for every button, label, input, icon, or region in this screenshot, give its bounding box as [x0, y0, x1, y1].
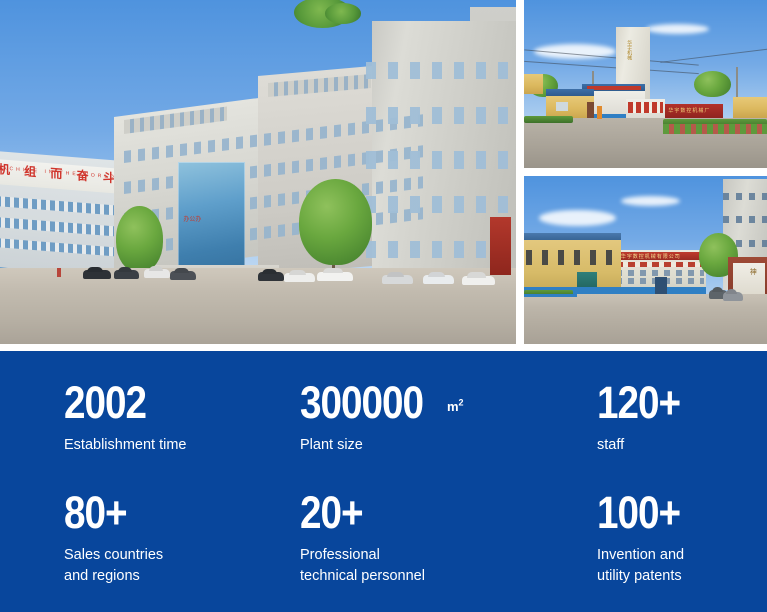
gatehouse-roof: [546, 89, 595, 96]
stat-label-line2: and regions: [64, 566, 163, 587]
tree: [299, 179, 371, 265]
window-row: [723, 193, 767, 200]
stat-value-line: 80+: [64, 490, 163, 536]
yard-pavement: [524, 294, 767, 344]
car: [144, 269, 170, 278]
stat-establishment-time: 2002 Establishment time: [64, 380, 187, 456]
cloud: [646, 24, 709, 34]
stat-label-line2: utility patents: [597, 566, 694, 587]
workshop-window-row: [526, 250, 613, 265]
stat-value: 80+: [64, 490, 127, 535]
tree: [116, 206, 162, 271]
pedestrian: [57, 268, 61, 277]
stat-value: 120+: [597, 380, 680, 425]
stat-value: 20+: [300, 490, 363, 535]
company-profile-panel: 机 组 而 奋 斗 MACHINE IN THE WORLD: [0, 0, 767, 612]
stat-value-line: 2002: [64, 380, 187, 426]
photo-factory-gate[interactable]: 华宇机械 华宇数控机械厂: [524, 0, 767, 168]
photo-main-office-building[interactable]: 机 组 而 奋 斗 MACHINE IN THE WORLD: [0, 0, 516, 344]
car: [723, 292, 742, 301]
stat-label: Establishment time: [64, 435, 187, 456]
car: [284, 273, 315, 282]
car: [83, 270, 111, 279]
stat-plant-size: 300000 m2 Plant size: [300, 380, 464, 456]
side-wall: [733, 97, 767, 117]
gatehouse-window: [556, 102, 568, 110]
tower-window-row: [366, 151, 510, 168]
office-entrance: [655, 277, 667, 294]
stat-value: 100+: [597, 490, 680, 535]
glass-sign-text: 办公办: [183, 214, 201, 223]
tower-window-row: [366, 241, 510, 258]
car: [170, 271, 196, 280]
car: [382, 275, 413, 284]
stat-label: Professional: [300, 545, 425, 566]
car: [317, 272, 353, 281]
photo-gallery: 机 组 而 奋 斗 MACHINE IN THE WORLD: [0, 0, 767, 344]
glass-curtain-wall: 办公办: [178, 162, 245, 276]
gatehouse-door: [587, 102, 594, 117]
hedge: [524, 116, 573, 123]
car: [423, 275, 454, 284]
tree: [694, 71, 730, 98]
plaque-row: [628, 102, 662, 112]
stat-label: Sales countries: [64, 545, 163, 566]
stat-value: 2002: [64, 380, 146, 425]
stat-staff: 120+ staff: [597, 380, 694, 456]
stat-value-line: 300000 m2: [300, 380, 464, 426]
office-sign-row: [616, 262, 703, 267]
workshop-building: [524, 240, 621, 294]
stat-label: Plant size: [300, 435, 464, 456]
company-sign-text: 华宇数控机械厂: [668, 107, 710, 114]
stat-value-line: 100+: [597, 490, 694, 536]
stat-value-line: 20+: [300, 490, 425, 536]
office-red-banner: 华宇数控机械有限公司: [616, 252, 703, 260]
monument-text: 神: [748, 268, 757, 275]
workshop-red-sign: [587, 86, 640, 90]
stats-grid: 2002 Establishment time 300000 m2 Plant …: [0, 351, 767, 612]
company-stats-banner: 2002 Establishment time 300000 m2 Plant …: [0, 351, 767, 612]
bollard: [597, 106, 602, 119]
tower-window-row: [366, 107, 510, 124]
car: [114, 270, 140, 279]
stat-value-line: 120+: [597, 380, 694, 426]
red-gate-pillar: [490, 217, 511, 275]
stat-label-line2: technical personnel: [300, 566, 425, 587]
tower-sign-text: 华宇机械: [625, 40, 632, 60]
stat-value: 300000: [300, 380, 423, 425]
curb: [524, 294, 577, 297]
tower-window-row: [366, 196, 510, 213]
flower-bed: [663, 124, 767, 134]
company-sign: 华宇数控机械厂: [665, 104, 723, 117]
stat-unit: m2: [447, 400, 464, 413]
stat-technical-personnel: 20+ Professional technical personnel: [300, 490, 425, 587]
car: [258, 272, 284, 281]
tower-window-row: [366, 62, 510, 79]
stat-patents: 100+ Invention and utility patents: [597, 490, 694, 587]
stat-label: Invention and: [597, 545, 694, 566]
side-shed: [524, 74, 543, 94]
car: [462, 276, 496, 285]
window-row: [723, 216, 767, 223]
office-banner-text: 华宇数控机械有限公司: [621, 253, 681, 260]
photo-factory-yard[interactable]: 华宇数控机械有限公司 神: [524, 176, 767, 344]
stat-label: staff: [597, 435, 694, 456]
window-row: [616, 270, 703, 276]
stat-sales-countries: 80+ Sales countries and regions: [64, 490, 163, 587]
